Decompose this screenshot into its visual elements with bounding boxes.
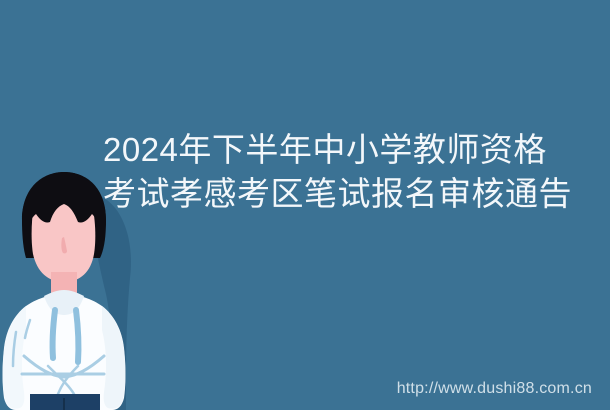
hoodie-body [3, 290, 126, 410]
watermark-url: http://www.dushi88.com.cn [397, 380, 592, 398]
article-cover-banner: 2024年下半年中小学教师资格 考试孝感考区笔试报名审核通告 http://ww… [0, 0, 610, 410]
title-line-1: 2024年下半年中小学教师资格 [103, 128, 563, 172]
page-title: 2024年下半年中小学教师资格 考试孝感考区笔试报名审核通告 [103, 128, 563, 216]
pants [30, 394, 100, 410]
title-line-2: 考试孝感考区笔试报名审核通告 [103, 172, 563, 216]
